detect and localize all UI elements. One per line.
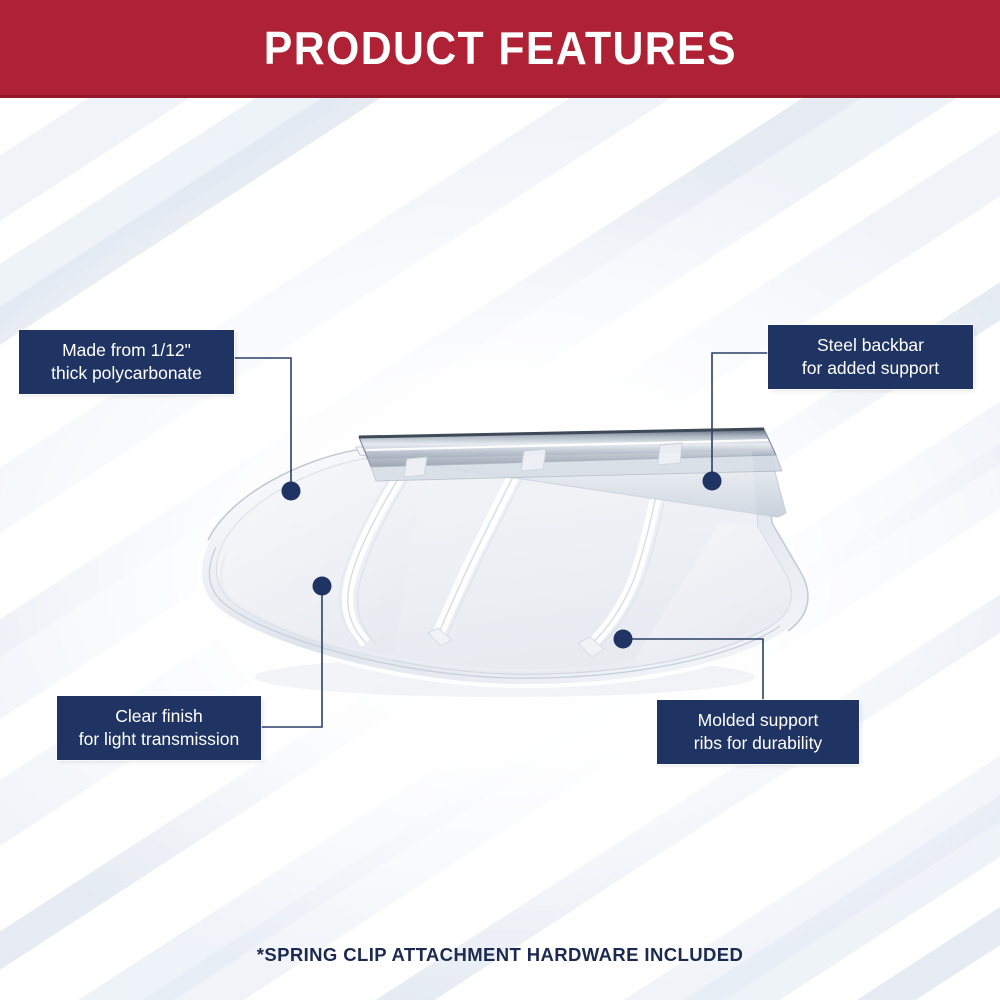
product-features-graphic: PRODUCT FEATURES	[0, 0, 1000, 1000]
window-well-cover-svg	[160, 395, 840, 715]
product-illustration	[160, 395, 840, 715]
callout-clear-finish: Clear finish for light transmission	[57, 696, 261, 760]
footer-note: *SPRING CLIP ATTACHMENT HARDWARE INCLUDE…	[0, 944, 1000, 966]
callout-backbar: Steel backbar for added support	[768, 325, 973, 389]
callout-material: Made from 1/12" thick polycarbonate	[19, 330, 234, 394]
page-title: PRODUCT FEATURES	[263, 25, 736, 71]
callout-support-ribs: Molded support ribs for durability	[657, 700, 859, 764]
header-banner: PRODUCT FEATURES	[0, 0, 1000, 98]
